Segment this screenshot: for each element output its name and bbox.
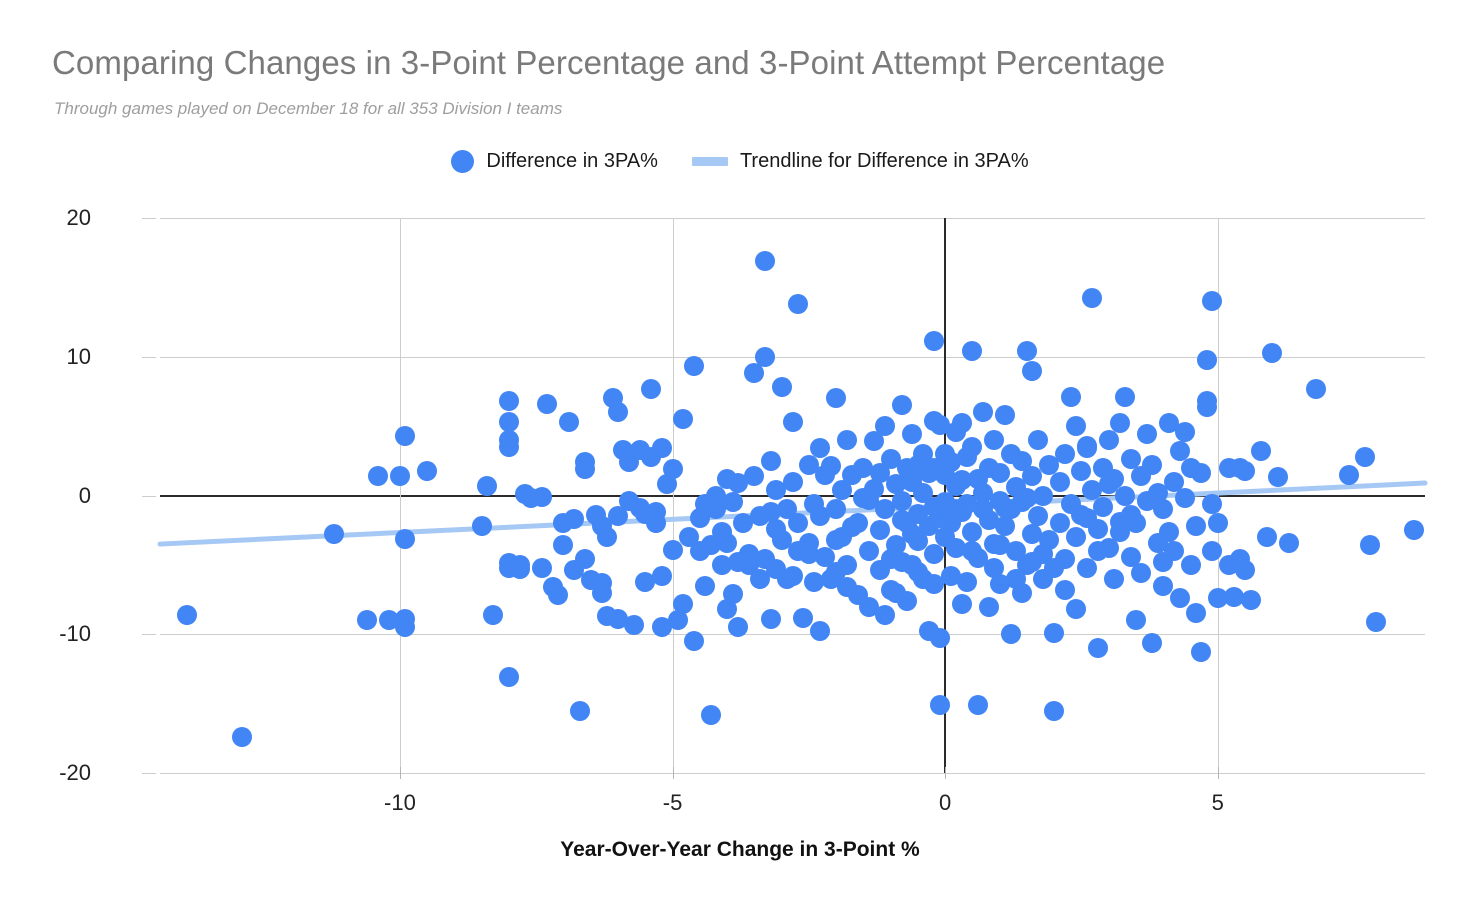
- plot-area: -20-1001020-10-505: [160, 218, 1425, 773]
- scatter-point: [761, 502, 781, 522]
- scatter-point: [952, 413, 972, 433]
- scatter-point: [390, 466, 410, 486]
- y-axis-tick-label: -20: [59, 760, 91, 786]
- scatter-point: [1175, 422, 1195, 442]
- scatter-point: [1088, 541, 1108, 561]
- scatter-point: [472, 516, 492, 536]
- scatter-point: [783, 412, 803, 432]
- legend-label-scatter: Difference in 3PA%: [486, 150, 658, 173]
- scatter-point: [1355, 447, 1375, 467]
- scatter-point: [1104, 569, 1124, 589]
- scatter-point: [723, 492, 743, 512]
- y-axis-tick-mark: [142, 218, 156, 219]
- scatter-point: [984, 558, 1004, 578]
- scatter-point: [1050, 472, 1070, 492]
- scatter-point: [881, 549, 901, 569]
- chart-title: Comparing Changes in 3-Point Percentage …: [52, 44, 1165, 82]
- y-axis-tick-label: -10: [59, 621, 91, 647]
- scatter-point: [1050, 513, 1070, 533]
- scatter-point: [761, 609, 781, 629]
- scatter-point: [1366, 612, 1386, 632]
- scatter-point: [1306, 379, 1326, 399]
- scatter-point: [483, 605, 503, 625]
- scatter-point: [826, 530, 846, 550]
- y-axis-tick-label: 10: [67, 344, 91, 370]
- scatter-point: [979, 597, 999, 617]
- scatter-point: [559, 412, 579, 432]
- scatter-point: [1012, 492, 1032, 512]
- scatter-point: [924, 544, 944, 564]
- x-axis-title: Year-Over-Year Change in 3-Point %: [0, 838, 1480, 862]
- scatter-point: [930, 695, 950, 715]
- legend-entry-trendline[interactable]: Trendline for Difference in 3PA%: [692, 150, 1029, 173]
- scatter-point: [772, 377, 792, 397]
- scatter-point: [892, 510, 912, 530]
- scatter-point: [810, 438, 830, 458]
- y-axis-tick-mark: [142, 496, 156, 497]
- scatter-point: [1055, 580, 1075, 600]
- scatter-point: [968, 695, 988, 715]
- scatter-point: [783, 472, 803, 492]
- scatter-point: [1115, 387, 1135, 407]
- scatter-point: [750, 569, 770, 589]
- scatter-point: [810, 506, 830, 526]
- y-axis-tick-mark: [142, 634, 156, 635]
- scatter-point: [510, 555, 530, 575]
- scatter-point: [859, 541, 879, 561]
- scatter-point: [701, 705, 721, 725]
- scatter-point: [952, 594, 972, 614]
- legend-entry-scatter[interactable]: Difference in 3PA%: [451, 150, 658, 173]
- scatter-point: [870, 463, 890, 483]
- scatter-point: [788, 541, 808, 561]
- scatter-point: [728, 552, 748, 572]
- scatter-point: [1022, 361, 1042, 381]
- x-axis-tick-label: 0: [939, 790, 951, 816]
- scatter-point: [1071, 461, 1091, 481]
- scatter-point: [232, 727, 252, 747]
- scatter-point: [1028, 430, 1048, 450]
- scatter-point: [1159, 522, 1179, 542]
- scatter-point: [1061, 387, 1081, 407]
- scatter-point: [592, 516, 612, 536]
- scatter-point: [870, 520, 890, 540]
- line-marker-icon: [692, 157, 728, 166]
- scatter-point: [1099, 430, 1119, 450]
- scatter-point: [663, 459, 683, 479]
- scatter-point: [788, 294, 808, 314]
- scatter-point: [1077, 558, 1097, 578]
- scatter-point: [821, 569, 841, 589]
- scatter-point: [1115, 486, 1135, 506]
- scatter-point: [477, 476, 497, 496]
- x-axis-tick-label: 5: [1212, 790, 1224, 816]
- y-axis-tick-mark: [142, 773, 156, 774]
- scatter-point: [532, 558, 552, 578]
- scatter-point: [1197, 397, 1217, 417]
- scatter-point: [886, 583, 906, 603]
- scatter-point: [1142, 633, 1162, 653]
- scatter-point: [1006, 569, 1026, 589]
- scatter-point: [1186, 516, 1206, 536]
- scatter-point: [1197, 350, 1217, 370]
- scatter-point: [1110, 522, 1130, 542]
- legend-label-trendline: Trendline for Difference in 3PA%: [740, 150, 1029, 173]
- x-axis-tick-label: -10: [384, 790, 416, 816]
- scatter-point: [663, 540, 683, 560]
- scatter-point: [619, 491, 639, 511]
- scatter-point: [892, 395, 912, 415]
- scatter-point: [641, 379, 661, 399]
- scatter-point: [1241, 590, 1261, 610]
- scatter-point: [1110, 413, 1130, 433]
- scatter-point: [761, 451, 781, 471]
- scatter-point: [499, 437, 519, 457]
- scatter-point: [690, 508, 710, 528]
- circle-marker-icon: [451, 150, 474, 173]
- scatter-point: [652, 566, 672, 586]
- scatter-point: [695, 576, 715, 596]
- scatter-point: [875, 605, 895, 625]
- scatter-point: [499, 412, 519, 432]
- y-axis-tick-label: 0: [79, 483, 91, 509]
- scatter-point: [1181, 555, 1201, 575]
- scatter-point: [537, 394, 557, 414]
- scatter-point: [930, 628, 950, 648]
- scatter-point: [1339, 465, 1359, 485]
- scatter-point: [1001, 624, 1021, 644]
- x-axis-tick-label: -5: [663, 790, 683, 816]
- scatter-point: [859, 490, 879, 510]
- scatter-point: [417, 461, 437, 481]
- scatter-point: [793, 608, 813, 628]
- chart-subtitle: Through games played on December 18 for …: [54, 99, 562, 119]
- scatter-point: [1044, 623, 1064, 643]
- scatter-point: [570, 701, 590, 721]
- scatter-point: [837, 555, 857, 575]
- scatter-point: [1088, 638, 1108, 658]
- scatter-point: [1208, 513, 1228, 533]
- scatter-point: [957, 572, 977, 592]
- scatter-point: [1055, 444, 1075, 464]
- scatter-point: [1262, 343, 1282, 363]
- scatter-point: [837, 430, 857, 450]
- y-axis-tick-label: 20: [67, 205, 91, 231]
- chart-legend: Difference in 3PA% Trendline for Differe…: [0, 150, 1480, 173]
- y-gridline: [160, 773, 1425, 774]
- scatter-point: [1033, 486, 1053, 506]
- scatter-point: [1235, 461, 1255, 481]
- scatter-point: [821, 456, 841, 476]
- scatter-point: [532, 487, 552, 507]
- scatter-point: [624, 615, 644, 635]
- scatter-chart: Comparing Changes in 3-Point Percentage …: [0, 0, 1480, 914]
- scatter-point: [177, 605, 197, 625]
- scatter-point: [990, 463, 1010, 483]
- scatter-point: [592, 583, 612, 603]
- scatter-point: [1257, 527, 1277, 547]
- scatter-point: [1170, 588, 1190, 608]
- scatter-point: [1279, 533, 1299, 553]
- scatter-point: [1077, 508, 1097, 528]
- scatter-point: [755, 347, 775, 367]
- scatter-point: [499, 391, 519, 411]
- y-axis-tick-mark: [142, 357, 156, 358]
- scatter-point: [652, 438, 672, 458]
- scatter-point: [783, 566, 803, 586]
- scatter-point: [1044, 701, 1064, 721]
- scatter-point: [395, 529, 415, 549]
